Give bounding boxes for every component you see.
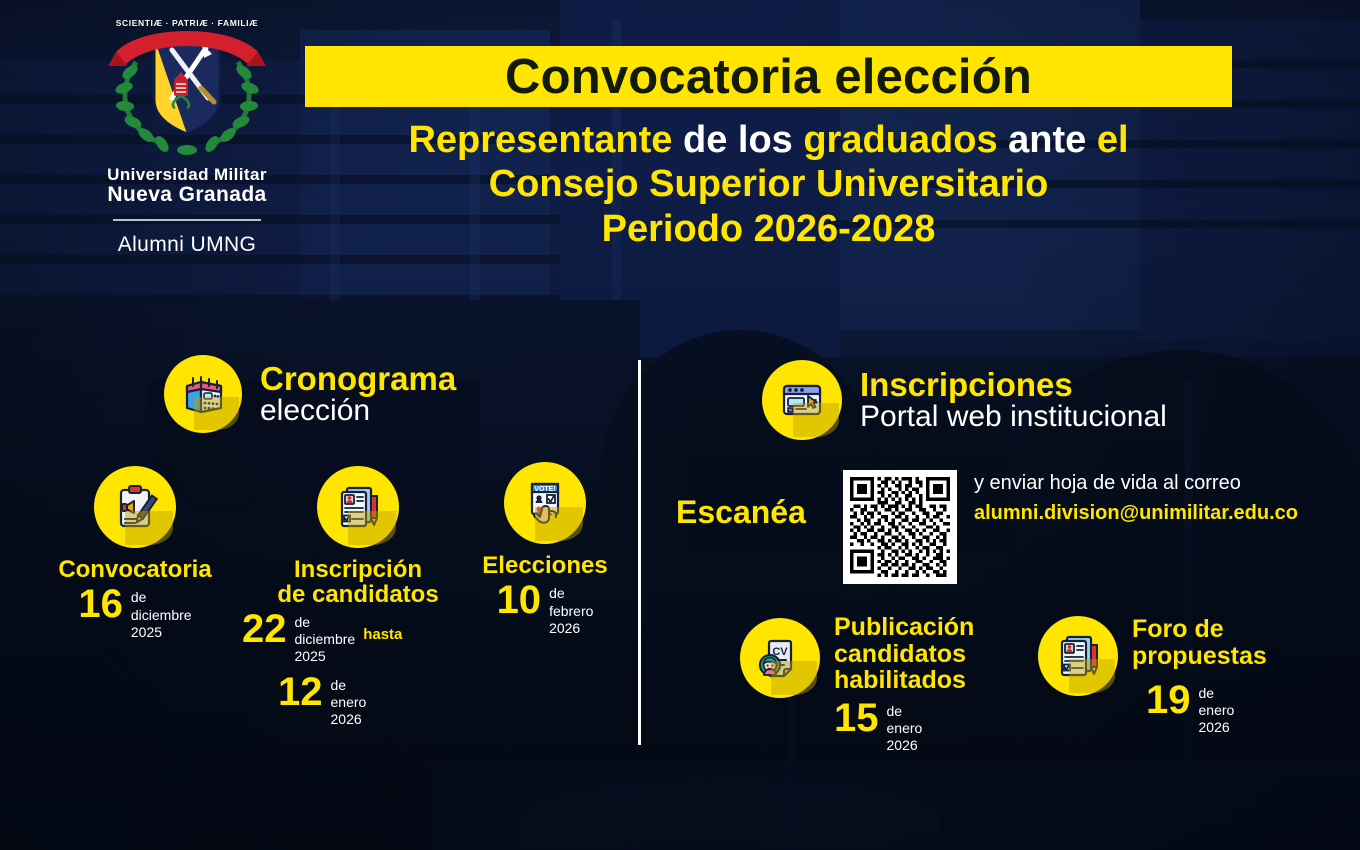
alumni-label: Alumni UMNG bbox=[62, 233, 312, 257]
subtitle-line-3: Periodo 2026-2028 bbox=[305, 207, 1232, 251]
registration-header: Inscripciones Portal web institucional bbox=[762, 360, 1167, 440]
subtitle-word-representante: Representante bbox=[408, 119, 672, 161]
proposal-form-pencil-icon bbox=[1038, 616, 1118, 696]
browser-window-icon bbox=[762, 360, 842, 440]
schedule-item-inscripcion: Inscripción de candidatos 22 de diciembr… bbox=[238, 466, 478, 728]
schedule-item-elecciones: VOTE! Elecciones 10 de febrero 2026 bbox=[452, 462, 638, 637]
subtitle-word-ante: ante bbox=[998, 119, 1097, 161]
registration-item-foro-label: Foro de propuestas bbox=[1132, 616, 1267, 669]
schedule-header: Cronograma elección bbox=[164, 355, 456, 433]
schedule-item-convocatoria-label: Convocatoria bbox=[30, 557, 240, 582]
umng-crest-icon: SCIENTIÆ · PATRIÆ · FAMILIÆ bbox=[102, 14, 272, 164]
schedule-item-inscripcion-date-end: de enero 2026 bbox=[331, 673, 367, 728]
subtitle-line-1: Representante de los graduados ante el bbox=[305, 118, 1232, 162]
svg-text:VOTE!: VOTE! bbox=[534, 486, 555, 493]
registration-item-foro-day: 19 bbox=[1146, 681, 1191, 719]
registration-item-publicacion-label: Publicación candidatos habilitados bbox=[834, 614, 974, 694]
university-name: Universidad Militar Nueva Granada bbox=[62, 166, 312, 206]
schedule-item-inscripcion-connector: hasta bbox=[363, 610, 402, 643]
registration-item-publicacion: CV Publicación candidatos habilitados 15… bbox=[740, 612, 974, 754]
schedule-item-convocatoria-date: de diciembre 2025 bbox=[131, 585, 192, 640]
column-divider bbox=[638, 360, 641, 745]
page-title: Convocatoria elección bbox=[505, 49, 1032, 105]
schedule-item-convocatoria-day: 16 bbox=[78, 585, 123, 623]
schedule-item-inscripcion-label: Inscripción de candidatos bbox=[238, 557, 478, 608]
cv-person-icon: CV bbox=[740, 618, 820, 698]
logo-divider bbox=[113, 219, 261, 221]
schedule-item-convocatoria: Convocatoria 16 de diciembre 2025 bbox=[30, 466, 240, 641]
title-banner: Convocatoria elección bbox=[305, 46, 1232, 107]
registration-item-foro-date: de enero 2026 bbox=[1199, 681, 1235, 736]
calendar-icon bbox=[164, 355, 242, 433]
subtitle-word-el: el bbox=[1097, 119, 1129, 161]
schedule-item-elecciones-label: Elecciones bbox=[452, 553, 638, 578]
subtitle-line-2: Consejo Superior Universitario bbox=[305, 162, 1232, 206]
crest-motto: SCIENTIÆ · PATRIÆ · FAMILIÆ bbox=[102, 18, 272, 28]
candidate-form-pencil-icon bbox=[317, 466, 399, 548]
subtitle-word-delos: de los bbox=[672, 119, 803, 161]
schedule-item-elecciones-day: 10 bbox=[497, 581, 542, 619]
registration-subtitle: Portal web institucional bbox=[860, 402, 1167, 433]
scan-label: Escanéa bbox=[676, 494, 806, 531]
schedule-item-inscripcion-day-end: 12 bbox=[278, 673, 323, 711]
registration-item-foro: Foro de propuestas 19 de enero 2026 bbox=[1038, 612, 1267, 736]
clipboard-megaphone-icon bbox=[94, 466, 176, 548]
registration-item-publicacion-day: 15 bbox=[834, 699, 879, 737]
schedule-item-inscripcion-date-start: de diciembre 2025 bbox=[295, 610, 356, 665]
registration-item-publicacion-date: de enero 2026 bbox=[887, 699, 923, 754]
schedule-subtitle: elección bbox=[260, 396, 456, 427]
qr-code-icon[interactable] bbox=[843, 470, 957, 584]
schedule-title: Cronograma bbox=[260, 362, 456, 396]
university-name-line1: Universidad Militar bbox=[62, 166, 312, 184]
subtitle: Representante de los graduados ante el C… bbox=[305, 118, 1232, 251]
university-name-line2: Nueva Granada bbox=[62, 184, 312, 206]
email-block: y enviar hoja de vida al correo alumni.d… bbox=[974, 472, 1298, 525]
subtitle-word-graduados: graduados bbox=[803, 119, 997, 161]
poster-canvas: SCIENTIÆ · PATRIÆ · FAMILIÆ Universidad … bbox=[0, 0, 1360, 850]
registration-title: Inscripciones bbox=[860, 368, 1167, 402]
schedule-item-elecciones-date: de febrero 2026 bbox=[549, 581, 593, 636]
schedule-item-inscripcion-day-start: 22 bbox=[242, 610, 287, 648]
umng-logo: SCIENTIÆ · PATRIÆ · FAMILIÆ Universidad … bbox=[62, 14, 312, 257]
email-intro-text: y enviar hoja de vida al correo bbox=[974, 472, 1298, 495]
email-address[interactable]: alumni.division@unimilitar.edu.co bbox=[974, 502, 1298, 525]
vote-ballot-hand-icon: VOTE! bbox=[504, 462, 586, 544]
